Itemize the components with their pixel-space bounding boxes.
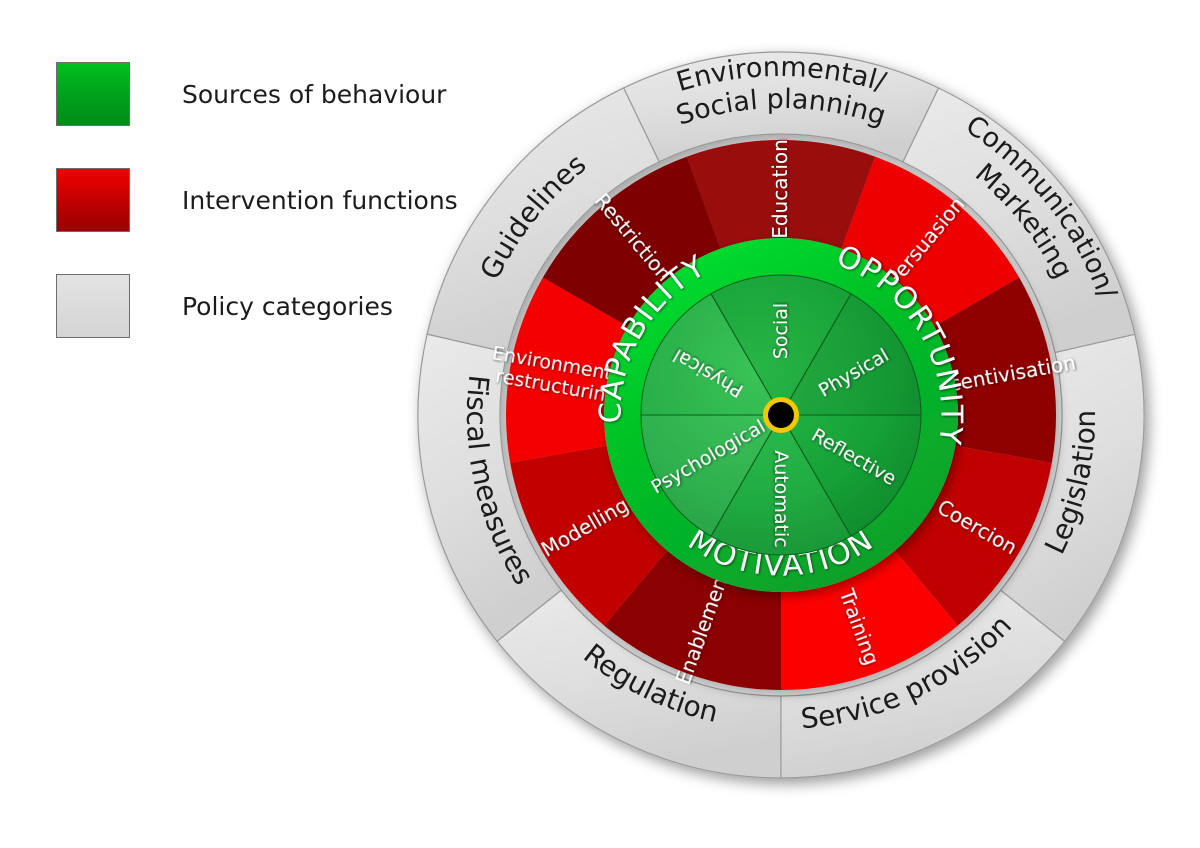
diagram-canvas: Sources of behaviour Intervention functi… [0, 0, 1200, 848]
svg-text:Automatic: Automatic [771, 450, 793, 547]
hub-core [768, 402, 794, 428]
svg-text:Social: Social [770, 303, 792, 359]
svg-text:Education: Education [768, 139, 792, 239]
intervention-label: Education [768, 139, 792, 239]
core-label: Social [770, 303, 792, 359]
core-label: Automatic [771, 450, 793, 547]
hub [763, 397, 799, 433]
behaviour-change-wheel: Environmental/Social planningCommunicati… [0, 0, 1200, 848]
